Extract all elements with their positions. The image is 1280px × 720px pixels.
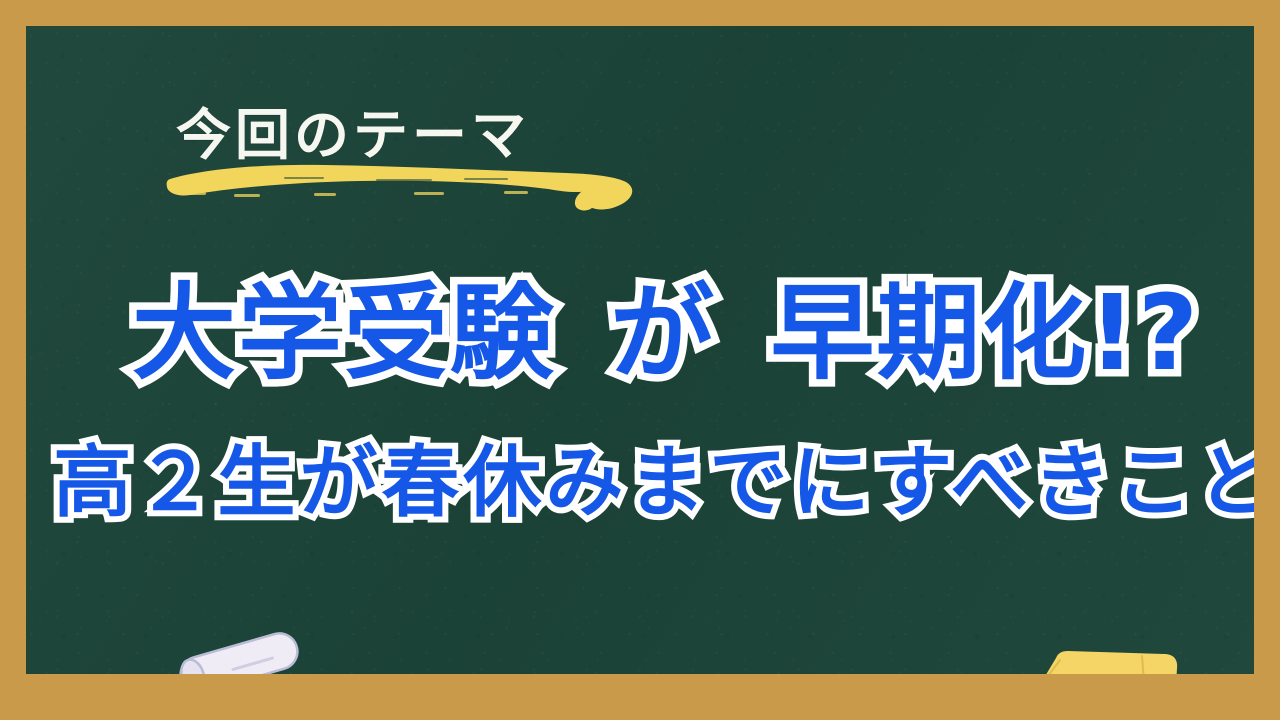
eyebrow-label: 今回のテーマ [176, 108, 530, 163]
slide-root: 今回のテーマ 大学受験 が 早期化!? 高２生が春休みまでにすべきこと [0, 0, 1280, 720]
subheadline-label: 高２生が春休みまでにすべきこと [53, 438, 1254, 528]
eyebrow-heading-group: 今回のテーマ [150, 92, 710, 222]
headline-part2: 早期化!? [770, 272, 1200, 394]
headline-part1: 大学受験 [132, 272, 556, 394]
chalkboard: 今回のテーマ 大学受験 が 早期化!? 高２生が春休みまでにすべきこと [26, 26, 1254, 700]
page-subtitle: 高２生が春休みまでにすべきこと [26, 444, 1254, 522]
headline-particle: が [610, 272, 716, 394]
board-ledge [26, 674, 1254, 700]
page-title: 大学受験 が 早期化!? [26, 281, 1254, 385]
